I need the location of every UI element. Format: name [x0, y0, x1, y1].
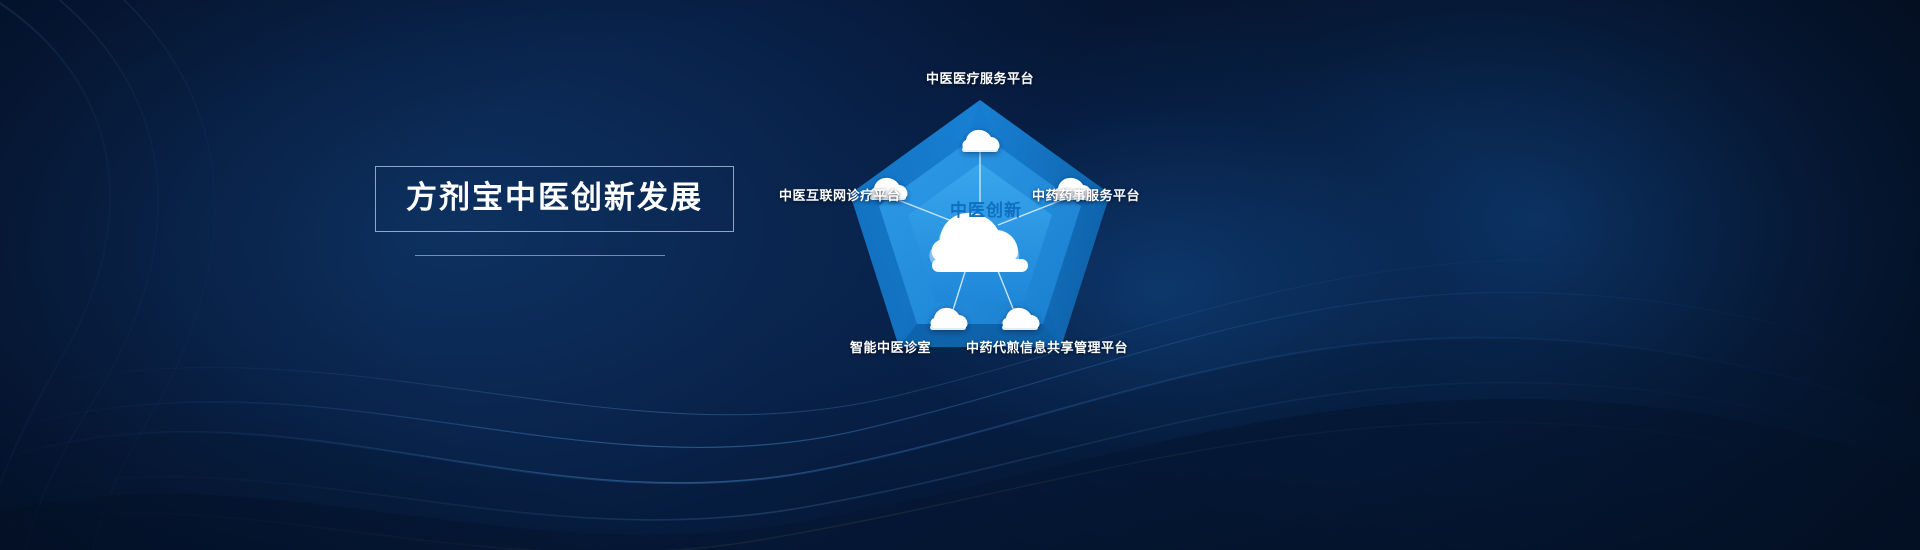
node-label-bottom-right: 中药代煎信息共享管理平台 [966, 337, 1128, 356]
banner-stage: 方剂宝中医创新发展 [0, 0, 1920, 550]
title-box: 方剂宝中医创新发展 [375, 166, 734, 232]
title-underline [415, 255, 665, 256]
node-label-right: 中药药事服务平台 [1032, 185, 1140, 204]
node-label-center: 中医创新 [936, 196, 1036, 221]
pentagon-graphic [780, 30, 1300, 430]
node-label-left: 中医互联网诊疗平台 [779, 185, 901, 204]
page-title: 方剂宝中医创新发展 [406, 181, 703, 215]
title-block: 方剂宝中医创新发展 [375, 166, 734, 256]
node-label-top: 中医医疗服务平台 [926, 68, 1034, 87]
pentagon-diagram: 中医医疗服务平台 中医互联网诊疗平台 中药药事服务平台 智能中医诊室 中药代煎信… [780, 30, 1300, 430]
node-label-bottom-left: 智能中医诊室 [850, 337, 931, 356]
